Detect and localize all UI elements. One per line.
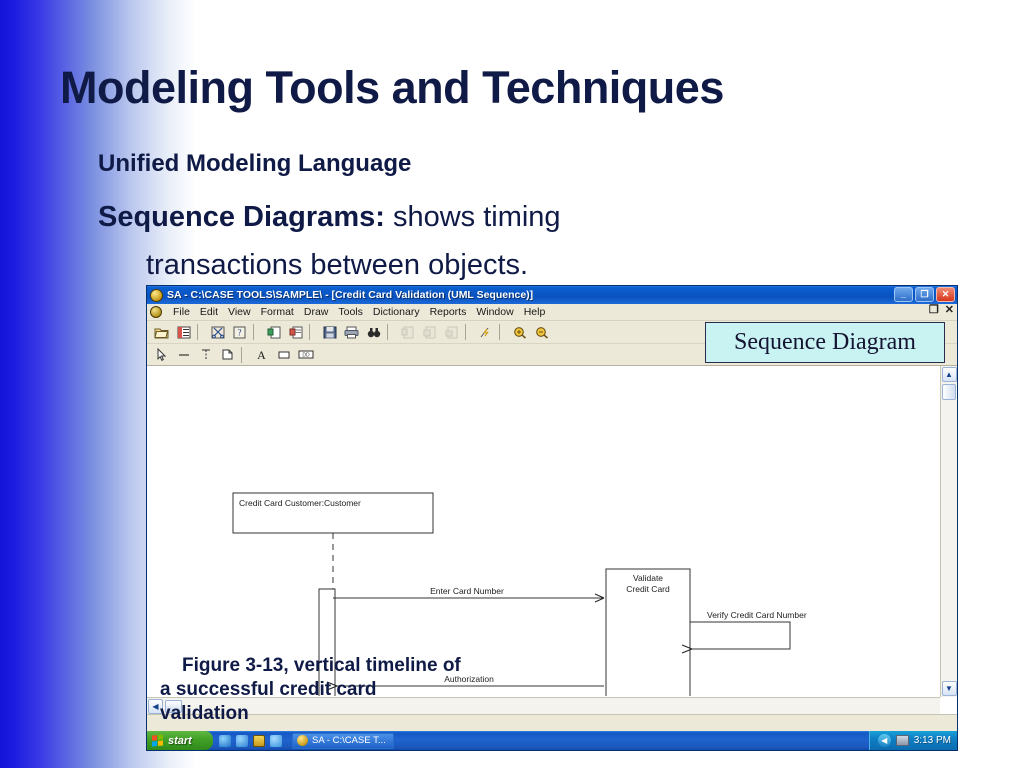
slide-body-bold: Sequence Diagrams:	[98, 201, 385, 233]
svg-text:?: ?	[238, 327, 242, 337]
desktop-icon[interactable]	[270, 735, 282, 747]
scroll-down-button[interactable]: ▼	[942, 681, 957, 696]
start-button[interactable]: start	[147, 731, 213, 750]
paste-disabled-icon	[397, 323, 418, 342]
zoom-out-icon[interactable]	[531, 323, 552, 342]
db-symbol-icon[interactable]: DD	[295, 345, 316, 364]
application-icon	[150, 289, 163, 302]
uml-sequence-diagram: Credit Card Customer:Customer Validate C…	[147, 366, 940, 696]
menu-bar: File Edit View Format Draw Tools Diction…	[147, 304, 957, 321]
toolbar-separator	[465, 324, 472, 340]
menu-item-file[interactable]: File	[168, 306, 195, 318]
page-title: Modeling Tools and Techniques	[60, 62, 724, 114]
slide-body-line-1: Sequence Diagrams: shows timing	[98, 201, 561, 234]
list-properties-icon[interactable]	[173, 323, 194, 342]
mdi-child-controls: ❐ ✕	[929, 305, 954, 316]
menu-item-format[interactable]: Format	[256, 306, 299, 318]
zoom-in-icon[interactable]	[509, 323, 530, 342]
message-arrow-verify-credit-card-number	[690, 622, 790, 649]
windows-flag-icon	[152, 734, 164, 746]
object-label-validate-line1: Validate	[633, 573, 663, 583]
lifeline-icon[interactable]	[195, 345, 216, 364]
toolbar-separator	[197, 324, 204, 340]
cut-disabled-icon	[441, 323, 462, 342]
slide-body-line-2: transactions between objects.	[146, 249, 528, 282]
object-label-validate-line2: Credit Card	[626, 584, 670, 594]
application-icon	[297, 735, 308, 746]
figure-caption-line-3: validation	[160, 702, 461, 726]
help-question-icon[interactable]: ?	[229, 323, 250, 342]
open-folder-icon[interactable]	[151, 323, 172, 342]
network-icon[interactable]	[896, 735, 909, 746]
menu-item-dictionary[interactable]: Dictionary	[368, 306, 425, 318]
sequence-diagram-canvas[interactable]: Credit Card Customer:Customer Validate C…	[147, 366, 940, 697]
toolbar-separator	[499, 324, 506, 340]
message-label-enter-card-number: Enter Card Number	[430, 586, 504, 596]
windows-taskbar: start SA - C:\CASE T... ◀ 3:13 PM	[147, 731, 957, 750]
mdi-restore-button[interactable]: ❐	[929, 305, 939, 316]
select-arrow-icon[interactable]	[151, 345, 172, 364]
scroll-up-button[interactable]: ▲	[942, 367, 957, 382]
restore-button[interactable]: ❐	[915, 287, 934, 302]
vertical-scrollbar[interactable]: ▲ ▼	[940, 366, 957, 697]
menu-item-view[interactable]: View	[223, 306, 256, 318]
figure-caption-line-1: Figure 3-13, vertical timeline of	[182, 655, 461, 676]
window-title-text: SA - C:\CASE TOOLS\SAMPLE\ - [Credit Car…	[167, 289, 533, 301]
media-icon[interactable]	[236, 735, 248, 747]
rectangle-icon[interactable]	[273, 345, 294, 364]
svg-text:DD: DD	[302, 353, 310, 359]
copy-disabled-icon	[419, 323, 440, 342]
figure-caption: Figure 3-13, vertical timeline of a succ…	[182, 654, 461, 726]
vertical-scroll-thumb[interactable]	[942, 384, 956, 400]
duplicate-document-icon[interactable]	[285, 323, 306, 342]
message-label-verify-credit-card-number: Verify Credit Card Number	[707, 610, 807, 620]
toolbar-separator	[253, 324, 260, 340]
mdi-close-button[interactable]: ✕	[945, 305, 954, 316]
taskbar-window-label: SA - C:\CASE T...	[312, 735, 386, 746]
minimize-button[interactable]: _	[894, 287, 913, 302]
close-button[interactable]: ✕	[936, 287, 955, 302]
new-document-icon[interactable]	[263, 323, 284, 342]
scissors-cut-icon[interactable]	[207, 323, 228, 342]
text-a-icon[interactable]: A	[251, 345, 272, 364]
taskbar-clock[interactable]: 3:13 PM	[914, 735, 951, 746]
svg-text:A: A	[257, 348, 266, 361]
toolbar-separator	[309, 324, 316, 340]
slide-subheading: Unified Modeling Language	[98, 150, 411, 178]
system-tray: ◀ 3:13 PM	[869, 731, 957, 750]
menu-item-tools[interactable]: Tools	[333, 306, 368, 318]
print-icon[interactable]	[341, 323, 362, 342]
taskbar-window-button[interactable]: SA - C:\CASE T...	[292, 733, 394, 749]
figure-caption-line-2: a successful credit card	[160, 678, 461, 702]
toolbar-separator	[241, 347, 248, 363]
line-icon[interactable]	[173, 345, 194, 364]
menu-item-draw[interactable]: Draw	[299, 306, 334, 318]
save-disk-icon[interactable]	[319, 323, 340, 342]
slide-body-rest: shows timing	[385, 201, 561, 233]
object-label-customer: Credit Card Customer:Customer	[239, 498, 361, 508]
ie-icon[interactable]	[219, 735, 231, 747]
tray-expand-icon[interactable]: ◀	[878, 734, 891, 747]
quick-launch-bar	[213, 735, 288, 747]
toolbar-separator	[387, 324, 394, 340]
menu-item-help[interactable]: Help	[519, 306, 551, 318]
menu-item-edit[interactable]: Edit	[195, 306, 223, 318]
start-button-label: start	[168, 735, 192, 747]
window-title-bar: SA - C:\CASE TOOLS\SAMPLE\ - [Credit Car…	[147, 286, 957, 304]
sequence-diagram-callout: Sequence Diagram	[705, 322, 945, 363]
document-icon	[150, 306, 162, 318]
page-icon[interactable]	[217, 345, 238, 364]
menu-item-reports[interactable]: Reports	[425, 306, 472, 318]
lightning-check-icon[interactable]	[475, 323, 496, 342]
find-binoculars-icon[interactable]	[363, 323, 384, 342]
window-controls: _ ❐ ✕	[894, 287, 955, 302]
outlook-icon[interactable]	[253, 735, 265, 747]
menu-item-window[interactable]: Window	[471, 306, 518, 318]
